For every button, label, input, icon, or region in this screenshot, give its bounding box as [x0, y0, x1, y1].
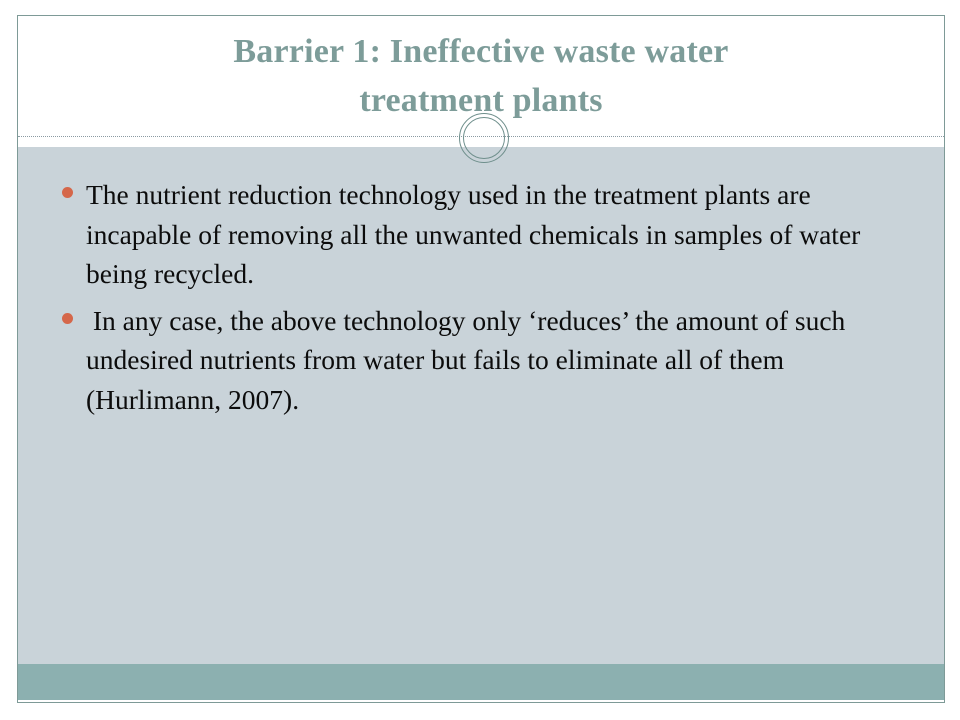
slide-canvas: Barrier 1: Ineffective waste water treat… — [17, 15, 945, 703]
double-ring-circle-icon — [459, 113, 509, 163]
slide-body-area: The nutrient reduction technology used i… — [18, 147, 944, 664]
footer-band — [18, 664, 944, 700]
list-item-text: In any case, the above technology only ‘… — [86, 301, 918, 420]
list-item-text: The nutrient reduction technology used i… — [86, 175, 918, 294]
list-item: In any case, the above technology only ‘… — [38, 301, 918, 420]
bullet-dot-icon — [62, 187, 73, 198]
page-title-line-1: Barrier 1: Ineffective waste water — [91, 28, 871, 76]
list-item: The nutrient reduction technology used i… — [38, 175, 918, 294]
bullet-list: The nutrient reduction technology used i… — [38, 175, 918, 420]
page-title: Barrier 1: Ineffective waste water treat… — [91, 28, 871, 125]
bullet-dot-icon — [62, 313, 73, 324]
